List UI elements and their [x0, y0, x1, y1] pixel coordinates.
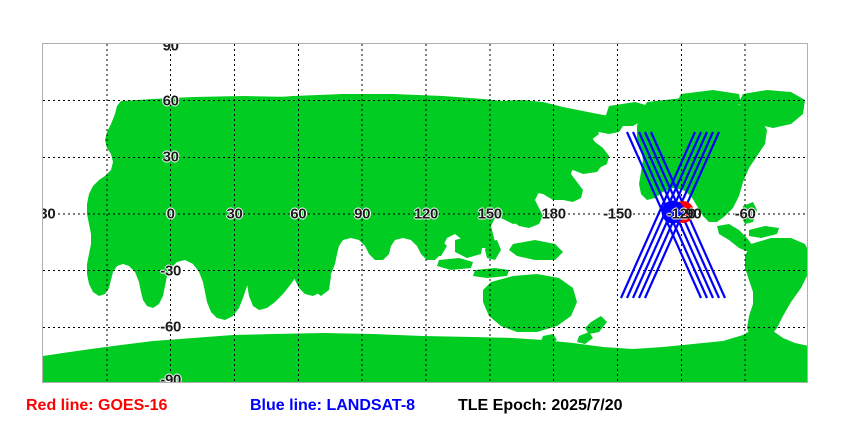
lat-tick-90: 90	[163, 43, 179, 54]
legend-tle-epoch: TLE Epoch: 2025/7/20	[458, 396, 623, 416]
lon-tick-m90: -90	[681, 207, 702, 222]
lat-tick-m60: -60	[160, 320, 181, 335]
lat-tick-m30: -30	[160, 263, 181, 278]
legend-blue-line-landsat8: Blue line: LANDSAT-8	[250, 396, 415, 416]
lat-tick-60: 60	[163, 93, 179, 108]
legend-red-line-goes16: Red line: GOES-16	[26, 396, 167, 416]
lat-tick-30: 30	[163, 150, 179, 165]
lon-tick-120: 120	[414, 207, 438, 222]
lon-tick-90: 90	[354, 207, 370, 222]
lon-tick-m60: -60	[735, 207, 756, 222]
lon-tick-60: 60	[290, 207, 306, 222]
lon-tick-150: 150	[478, 207, 502, 222]
lon-tick-180: 180	[542, 207, 566, 222]
lon-tick-m30: -30	[42, 207, 55, 222]
lat-tick-m90: -90	[160, 373, 181, 384]
lon-tick-m150: -150	[603, 207, 632, 222]
legend-bar: Red line: GOES-16 Blue line: LANDSAT-8 T…	[0, 396, 850, 420]
lon-tick-30: 30	[226, 207, 242, 222]
screenshot-root: 90 60 30 0 -30 -60 -90 -30 0 30 60 90 12…	[0, 0, 850, 425]
lon-tick-0: 0	[167, 207, 175, 222]
world-map[interactable]: 90 60 30 0 -30 -60 -90 -30 0 30 60 90 12…	[42, 43, 808, 383]
